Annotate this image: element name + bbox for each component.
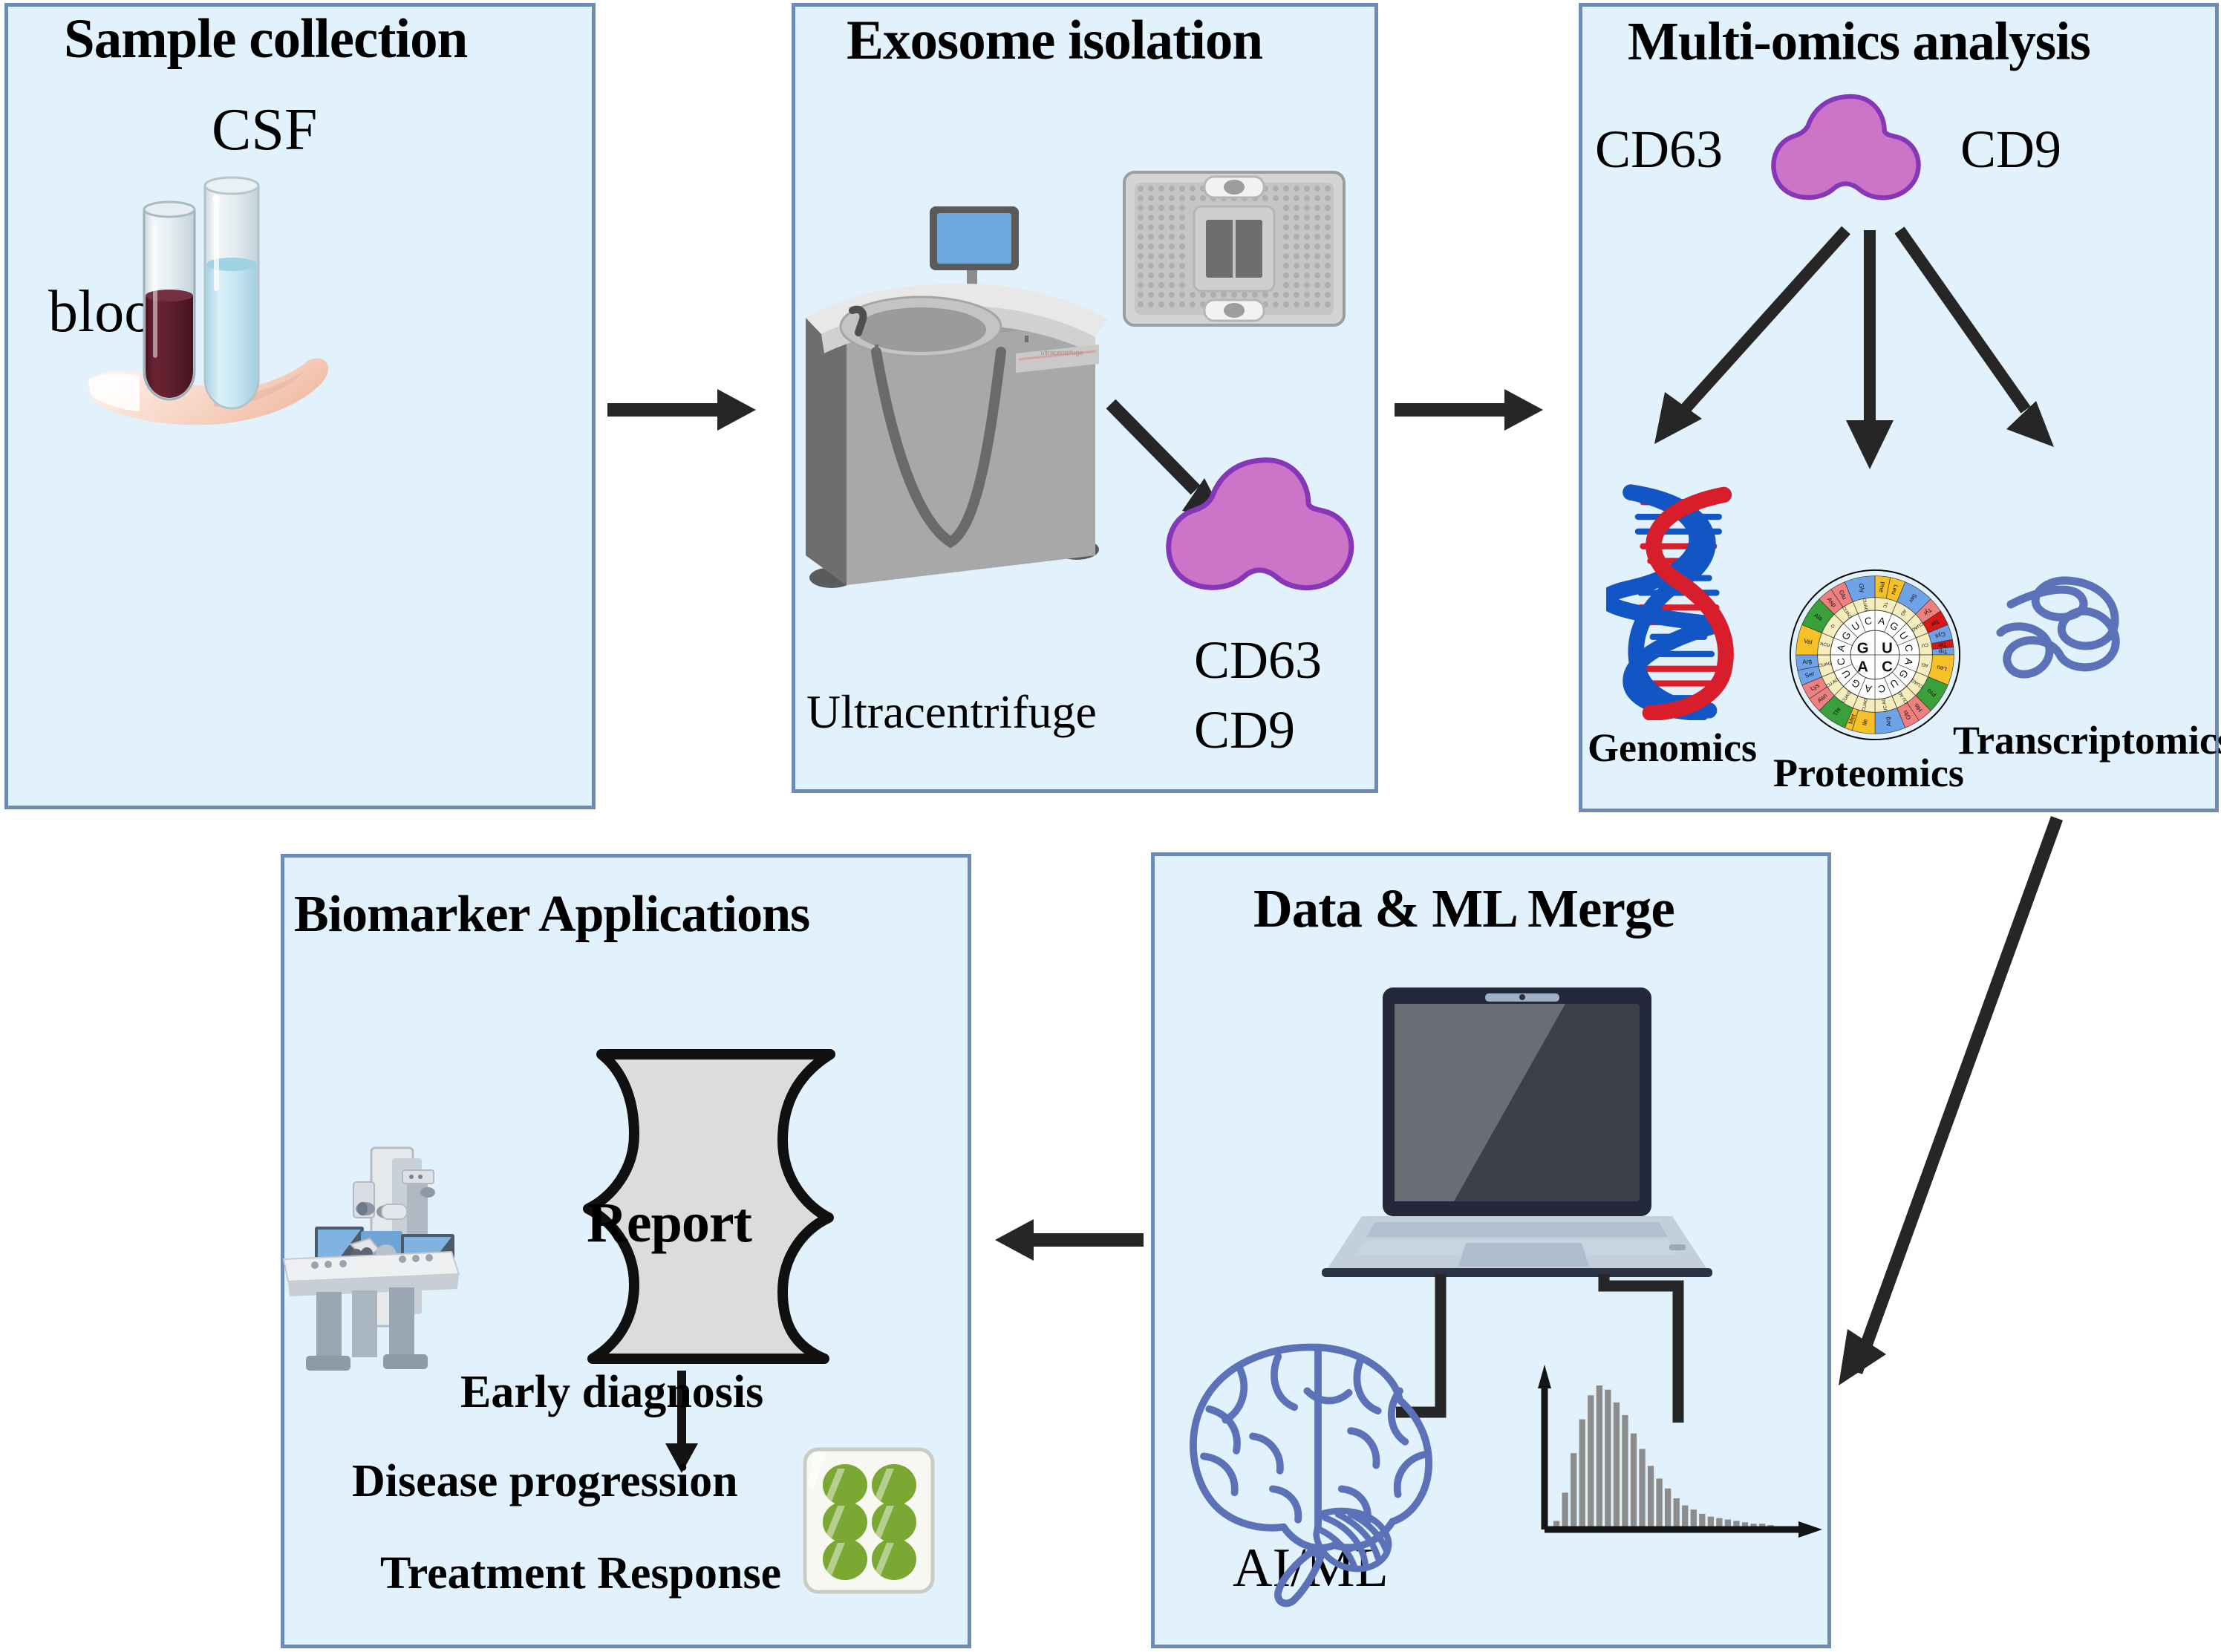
svg-text:C: C — [1882, 659, 1893, 675]
svg-text:A: A — [1857, 659, 1868, 675]
panel-multi-omics-title: Multi-omics analysis — [1628, 10, 2090, 73]
panel-sample-collection-title: Sample collection — [64, 7, 467, 71]
svg-text:ultracentrifuge: ultracentrifuge — [1040, 349, 1083, 356]
rna-squiggle-icon — [1978, 569, 2139, 702]
label-omics-cd63: CD63 — [1595, 119, 1723, 180]
label-exosome-cd9: CD9 — [1194, 699, 1295, 761]
label-csf: CSF — [212, 97, 317, 164]
codon-wheel-icon: PheLeuSerTyrTerCysTerTrpLeuProHisGlnArgI… — [1789, 566, 1961, 744]
arrow-sample-to-exosome — [607, 380, 767, 440]
centrifuge-monitor — [930, 206, 1019, 290]
csf-tube — [205, 177, 258, 408]
label-exosome-cd63: CD63 — [1194, 630, 1322, 691]
electron-microscope-icon — [282, 1143, 505, 1388]
panel-biomarker-applications-title: Biomarker Applications — [294, 885, 809, 944]
blood-tube — [144, 202, 195, 399]
omics-branch-arrows — [1597, 223, 2087, 512]
label-early-diagnosis: Early diagnosis — [460, 1366, 763, 1419]
svg-text:Phe: Phe — [1878, 581, 1885, 593]
svg-text:U: U — [1882, 640, 1893, 656]
label-proteomics: Proteomics — [1773, 750, 1964, 796]
figure-canvas: Sample collection CSF blood — [0, 0, 2221, 1652]
svg-text:Arg: Arg — [1802, 658, 1813, 665]
svg-text:Ile: Ile — [1861, 718, 1868, 725]
label-genomics: Genomics — [1588, 725, 1757, 771]
label-report: Report — [587, 1191, 751, 1256]
arrow-exosome-to-omics — [1395, 380, 1554, 440]
exosome-blob-omics — [1758, 89, 1929, 230]
svg-text:Ter: Ter — [1937, 641, 1947, 649]
microplate-icon — [1123, 171, 1346, 327]
arrow-omics-to-ml — [1821, 806, 2221, 1400]
svg-text:G: G — [1857, 640, 1869, 656]
laptop-icon — [1320, 987, 1714, 1284]
label-transcriptomics: Transcriptomics — [1953, 717, 2221, 763]
exosome-blob-isolation — [1149, 454, 1365, 618]
histogram-chart — [1537, 1359, 1834, 1559]
sample-collection-graphic — [45, 156, 356, 453]
ultracentrifuge-icon: ultracentrifuge — [802, 206, 1114, 600]
panel-exosome-isolation-title: Exosome isolation — [847, 9, 1262, 73]
arrow-ml-to-biomarker — [995, 1210, 1144, 1270]
label-treatment-response: Treatment Response — [380, 1547, 781, 1600]
panel-data-ml-merge-title: Data & ML Merge — [1253, 878, 1674, 940]
pill-blister-pack-icon — [802, 1446, 936, 1595]
brain-icon — [1181, 1336, 1455, 1581]
dna-helix-icon — [1605, 475, 1754, 720]
svg-text:Trp: Trp — [1938, 648, 1948, 656]
label-omics-cd9: CD9 — [1960, 119, 2061, 180]
label-ultracentrifuge: Ultracentrifuge — [806, 685, 1097, 740]
label-disease-progression: Disease progression — [352, 1455, 738, 1508]
